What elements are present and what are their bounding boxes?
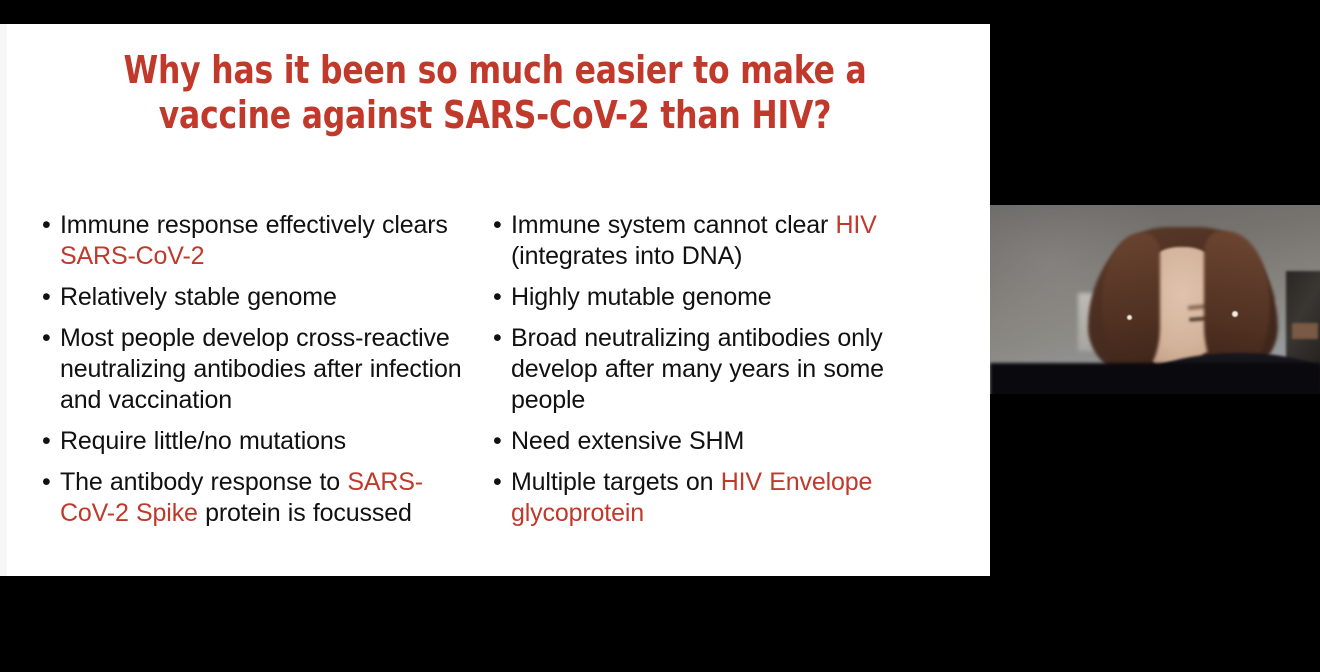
bullet-text-highlight: HIV [835, 211, 876, 239]
bullet-marker-icon: • [42, 210, 51, 241]
bullet-item: •Most people develop cross-reactive neut… [38, 323, 470, 416]
bullet-text: Immune response effectively clears [60, 211, 448, 239]
earring-left [1127, 315, 1132, 320]
chair-arm [1292, 323, 1318, 339]
hair-strand-left [1102, 233, 1160, 375]
bullet-text: Most people develop cross-reactive neutr… [60, 324, 461, 414]
bullet-text: Require little/no mutations [60, 427, 346, 455]
bullet-column-right: •Immune system cannot clear HIV (integra… [489, 210, 959, 539]
bullet-text: The antibody response to [60, 468, 347, 496]
slide-title-line-1: Why has it been so much easier to make a [76, 48, 913, 93]
bullet-item: •Immune system cannot clear HIV (integra… [489, 210, 959, 272]
bullet-marker-icon: • [493, 467, 502, 498]
bullet-text: Need extensive SHM [511, 427, 744, 455]
slide-canvas: Why has it been so much easier to make a… [0, 24, 990, 576]
earring-right [1232, 311, 1238, 317]
bullet-marker-icon: • [493, 323, 502, 354]
bullet-marker-icon: • [42, 467, 51, 498]
bullet-column-left: •Immune response effectively clears SARS… [38, 210, 470, 539]
bullet-text: Immune system cannot clear [511, 211, 835, 239]
bullet-marker-icon: • [493, 282, 502, 313]
bullet-item: •The antibody response to SARS-CoV-2 Spi… [38, 467, 470, 529]
slide-title: Why has it been so much easier to make a… [76, 48, 913, 138]
bullet-text: protein is focussed [198, 499, 412, 527]
bullet-text: Highly mutable genome [511, 283, 772, 311]
bullet-item: •Highly mutable genome [489, 282, 959, 313]
speaker-video-tile[interactable] [990, 205, 1320, 394]
bullet-text: Relatively stable genome [60, 283, 337, 311]
bullet-text-highlight: SARS-CoV-2 [60, 242, 204, 270]
bullet-marker-icon: • [42, 323, 51, 354]
bullet-marker-icon: • [42, 426, 51, 457]
slide-title-line-2: vaccine against SARS-CoV-2 than HIV? [76, 93, 913, 138]
bullet-item: •Multiple targets on HIV Envelope glycop… [489, 467, 959, 529]
bullet-item: •Broad neutralizing antibodies only deve… [489, 323, 959, 416]
slide-left-edge-strip [0, 24, 7, 576]
bullet-text: Broad neutralizing antibodies only devel… [511, 324, 884, 414]
bullet-marker-icon: • [493, 426, 502, 457]
bullet-item: •Require little/no mutations [38, 426, 470, 457]
bullet-marker-icon: • [42, 282, 51, 313]
torso-lower [990, 363, 1320, 394]
presentation-screen: Why has it been so much easier to make a… [0, 0, 1320, 672]
bullet-item: •Need extensive SHM [489, 426, 959, 457]
bullet-item: •Relatively stable genome [38, 282, 470, 313]
bullet-text: Multiple targets on [511, 468, 721, 496]
bullet-text: (integrates into DNA) [511, 242, 742, 270]
bullet-marker-icon: • [493, 210, 502, 241]
bullet-item: •Immune response effectively clears SARS… [38, 210, 470, 272]
